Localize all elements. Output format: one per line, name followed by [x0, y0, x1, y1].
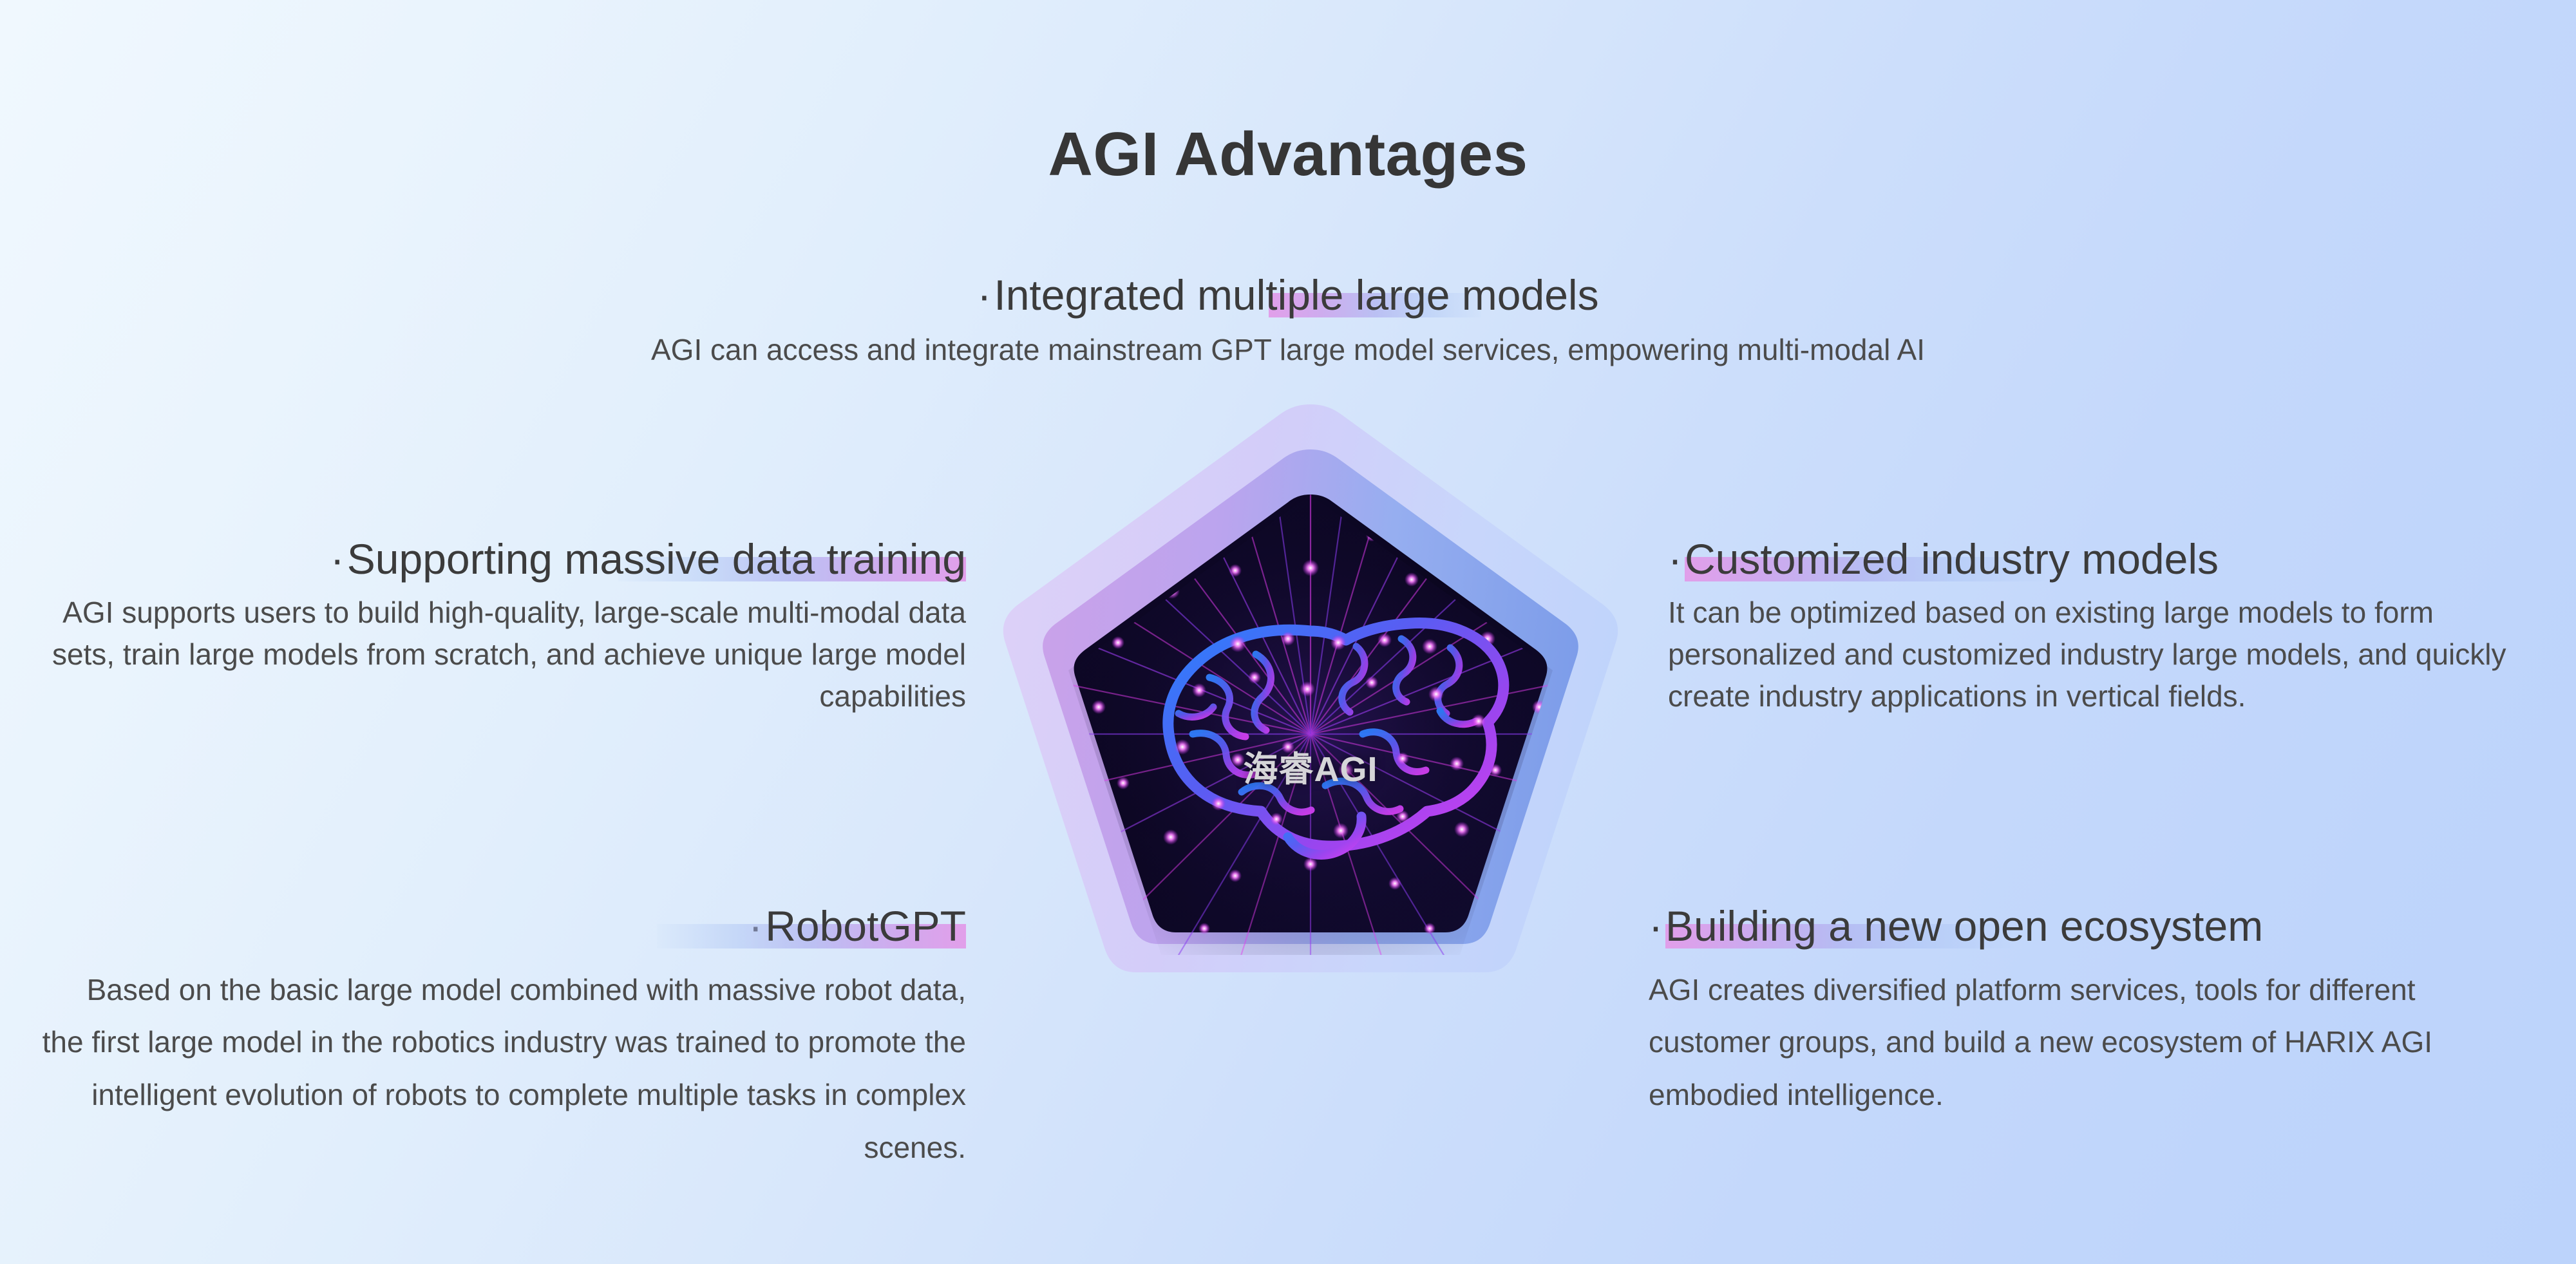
- section-body: It can be optimized based on existing la…: [1668, 592, 2557, 718]
- heading-text: Building a new open ecosystem: [1665, 902, 2263, 950]
- section-body: AGI can access and integrate mainstream …: [0, 329, 2576, 371]
- heading-text: Supporting massive data training: [347, 535, 966, 583]
- section-body: AGI supports users to build high-quality…: [39, 592, 966, 718]
- bullet-icon: ·: [330, 535, 347, 583]
- heading-text: Integrated multiple large models: [994, 271, 1598, 319]
- page-title: AGI Advantages: [0, 119, 2576, 190]
- section-body: AGI creates diversified platform service…: [1649, 964, 2537, 1122]
- section-integrated-models: ·Integrated multiple large models AGI ca…: [0, 270, 2576, 371]
- section-open-ecosystem: ·Building a new open ecosystem AGI creat…: [1649, 901, 2537, 1122]
- section-heading: ·Building a new open ecosystem: [1649, 901, 2537, 951]
- pentagon-svg: [985, 386, 1636, 1108]
- section-heading: ·Customized industry models: [1668, 534, 2557, 584]
- section-massive-data-training: ·Supporting massive data training AGI su…: [39, 534, 966, 717]
- section-robotgpt: ·RobotGPT Based on the basic large model…: [39, 901, 966, 1174]
- section-heading: ·Supporting massive data training: [39, 534, 966, 584]
- bullet-icon: ·: [1649, 902, 1665, 950]
- bullet-icon: ·: [977, 271, 994, 319]
- section-body: Based on the basic large model combined …: [39, 964, 966, 1175]
- bullet-icon: ·: [1668, 535, 1685, 583]
- bullet-icon: ·: [748, 902, 765, 950]
- section-customized-industry-models: ·Customized industry models It can be op…: [1668, 534, 2557, 717]
- section-heading: ·Integrated multiple large models: [0, 270, 2576, 320]
- infographic-canvas: AGI Advantages: [0, 0, 2576, 1264]
- heading-text: RobotGPT: [765, 902, 966, 950]
- heading-text: Customized industry models: [1685, 535, 2219, 583]
- section-heading: ·RobotGPT: [39, 901, 966, 951]
- center-pentagon-graphic: 海睿AGI: [985, 386, 1636, 1108]
